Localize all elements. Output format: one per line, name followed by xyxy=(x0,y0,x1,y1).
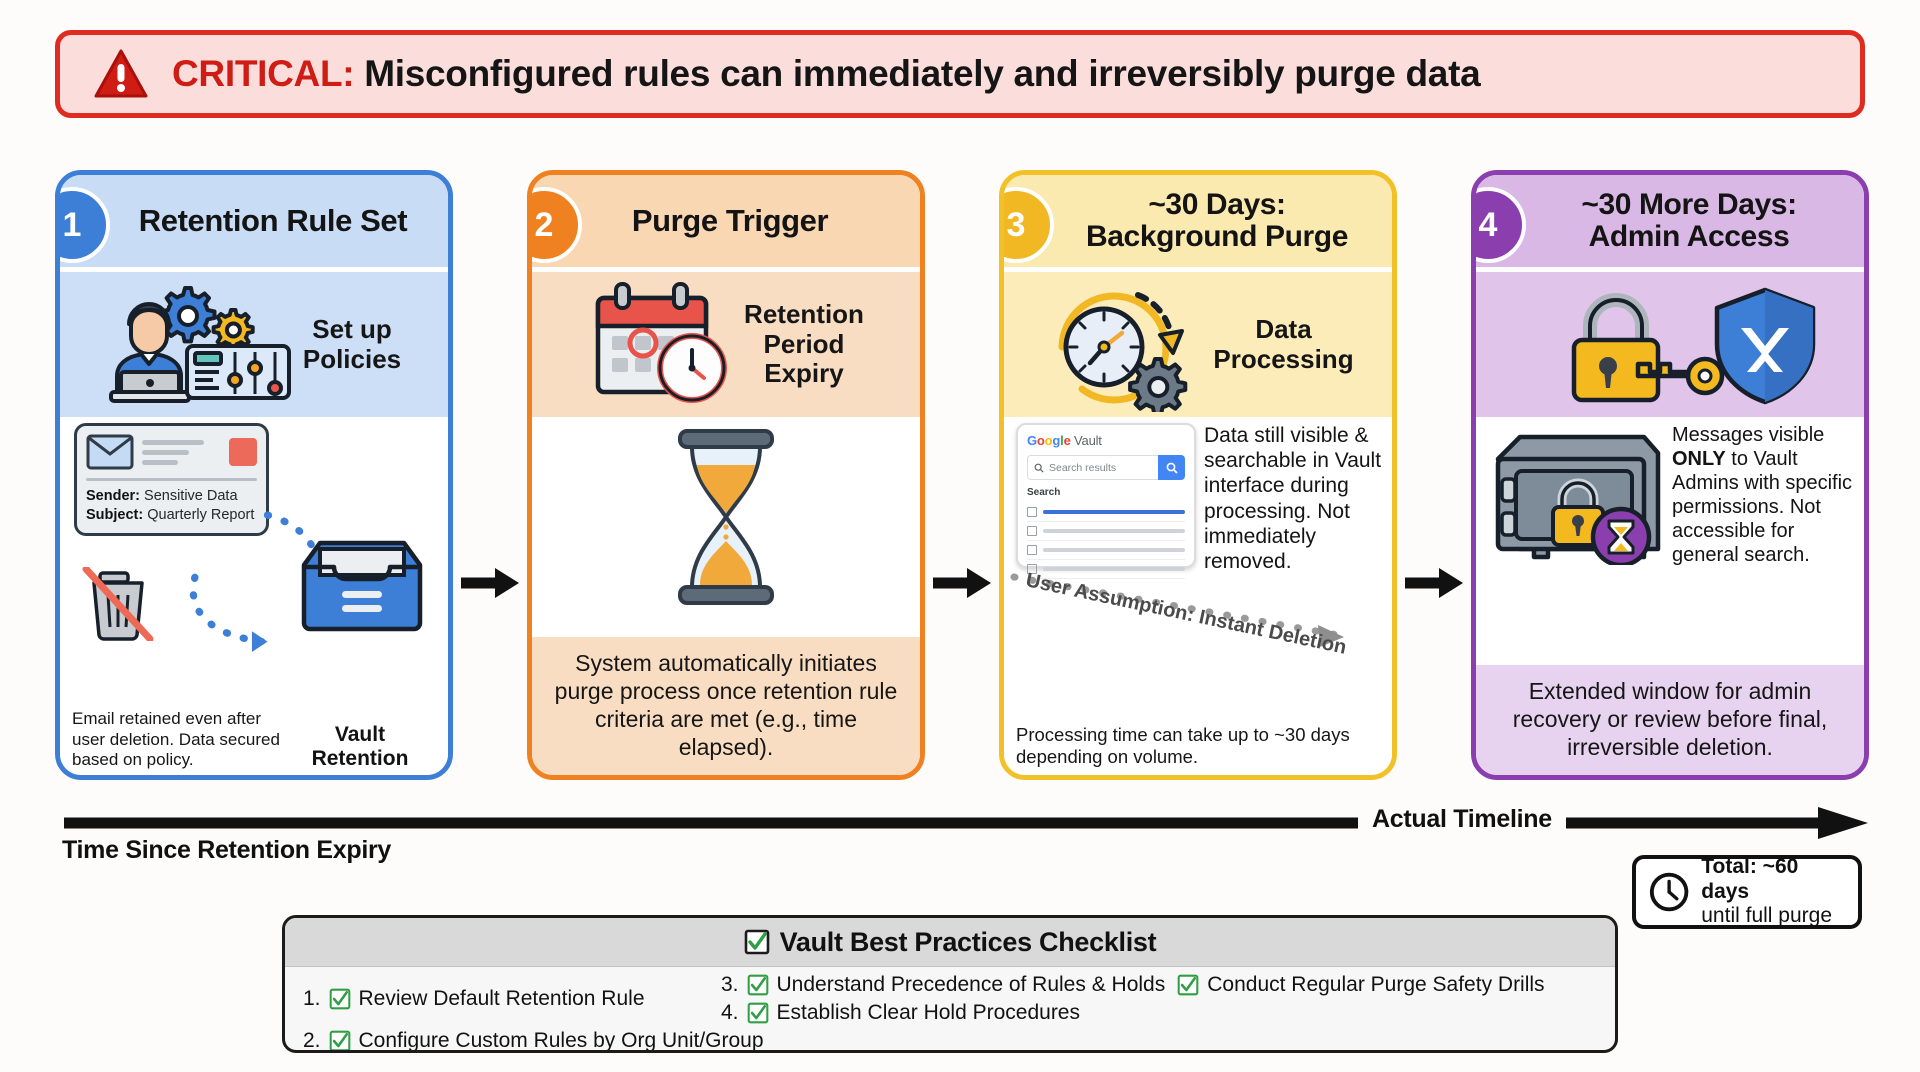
vault-results-section-label: Search xyxy=(1027,487,1185,498)
checklist-item-2-label: Configure Custom Rules by Org Unit/Group xyxy=(359,1029,764,1053)
total-line-2: until full purge xyxy=(1701,904,1832,927)
stage-card-1[interactable]: 1 Retention Rule Set xyxy=(55,170,453,780)
vault-search-placeholder: Search results xyxy=(1049,462,1116,474)
checklist-item-1-number: 1. xyxy=(303,987,321,1011)
clock-icon xyxy=(1648,870,1690,914)
stage-card-1-body: Sender: Sensitive Data Subject: Quarterl… xyxy=(60,417,448,775)
vault-retention-label: VaultRetention xyxy=(290,723,430,771)
padlock-key-shield-icon xyxy=(1520,280,1820,410)
vault-search-button[interactable] xyxy=(1158,455,1185,480)
stage-card-2-body xyxy=(532,417,920,637)
vault-search-input[interactable]: Search results xyxy=(1027,455,1158,480)
calendar-clock-icon xyxy=(588,280,738,410)
banner-critical-label: CRITICAL: xyxy=(172,53,354,94)
stage-card-1-title: Retention Rule Set xyxy=(139,204,407,237)
google-vault-mock[interactable]: Google Vault Search results xyxy=(1016,423,1196,568)
checklist-header: Vault Best Practices Checklist xyxy=(285,918,1615,967)
banner-message: Misconfigured rules can immediately and … xyxy=(364,53,1480,94)
warning-triangle-icon xyxy=(94,49,148,99)
checklist-grid: 1. Review Default Retention Rule 3. xyxy=(303,973,1597,1053)
stage-card-4-note: Messages visible ONLY to Vault Admins wi… xyxy=(1672,423,1854,567)
stage-card-4-title: ~30 More Days:Admin Access xyxy=(1581,189,1796,254)
stage-card-2-footer: System automatically initiates purge pro… xyxy=(532,637,920,775)
stage-card-3-header: ~30 Days:Background Purge xyxy=(1004,175,1392,267)
stage-card-3-title: ~30 Days:Background Purge xyxy=(1086,189,1348,254)
checkbox-checked-icon[interactable] xyxy=(747,974,769,996)
checklist-item-4-label: Establish Clear Hold Procedures xyxy=(777,1001,1080,1025)
hourglass-icon xyxy=(666,427,786,607)
checklist-right-row-1: 3. Understand Precedence of Rules & Hold… xyxy=(721,973,1597,997)
stage-card-2-hero: RetentionPeriodExpiry xyxy=(532,267,920,417)
result-checkbox[interactable] xyxy=(1027,507,1037,517)
checklist-item-1[interactable]: 1. Review Default Retention Rule xyxy=(303,973,703,1025)
checklist-item-3-number: 3. xyxy=(721,973,739,997)
stage-card-3-footer-note: Processing time can take up to ~30 days … xyxy=(1016,724,1356,769)
checklist-right-row-2: 4. Establish Clear Hold Procedures xyxy=(721,1001,1597,1025)
stage-card-4-footer: Extended window for admin recovery or re… xyxy=(1476,665,1864,775)
stage-card-2-title: Purge Trigger xyxy=(632,204,858,237)
checkbox-checked-icon[interactable] xyxy=(329,988,351,1010)
result-bar xyxy=(1043,510,1185,514)
vault-search-row[interactable]: Search results xyxy=(1027,455,1185,480)
magnifier-icon xyxy=(1034,463,1044,473)
checklist-title: Vault Best Practices Checklist xyxy=(780,927,1157,958)
clock-gear-processing-icon xyxy=(1042,277,1207,412)
result-checkbox[interactable] xyxy=(1027,545,1037,555)
checklist-item-3[interactable]: 3. Understand Precedence of Rules & Hold… xyxy=(721,973,1165,997)
stage-card-1-hero-label: Set upPolicies xyxy=(303,315,401,375)
stage-card-1-header: Retention Rule Set xyxy=(60,175,448,267)
checklist-item-4-number: 4. xyxy=(721,1001,739,1025)
checklist-item-4[interactable]: 4. Establish Clear Hold Procedures xyxy=(721,1001,1080,1025)
vault-result-row[interactable] xyxy=(1027,522,1185,541)
timeline-right-label: Actual Timeline xyxy=(1358,805,1566,834)
stage-card-1-hero: Set upPolicies xyxy=(60,267,448,417)
flow-arrow-3-to-4 xyxy=(1403,566,1465,600)
stage-card-3-note: Data still visible & searchable in Vault… xyxy=(1204,423,1382,574)
vault-tray-icon xyxy=(298,537,426,635)
vault-wordmark: Vault xyxy=(1074,433,1102,448)
stage-card-3-body: Google Vault Search results xyxy=(1004,417,1392,775)
stage-card-2-header: Purge Trigger xyxy=(532,175,920,267)
result-bar xyxy=(1043,529,1185,533)
result-checkbox[interactable] xyxy=(1027,526,1037,536)
checklist-body: 1. Review Default Retention Rule 3. xyxy=(285,967,1615,1048)
total-duration-badge: Total: ~60 days until full purge xyxy=(1632,855,1862,929)
vault-result-row[interactable] xyxy=(1027,503,1185,522)
flow-arrow-1-to-2 xyxy=(459,566,521,600)
checklist-item-5-label: Conduct Regular Purge Safety Drills xyxy=(1207,973,1544,997)
google-vault-logo: Google Vault xyxy=(1027,433,1185,448)
checkbox-checked-icon[interactable] xyxy=(1177,974,1199,996)
safe-hourglass-icon xyxy=(1490,425,1670,565)
checkbox-checked-icon xyxy=(744,929,770,955)
stage-card-1-note: Email retained even after user deletion.… xyxy=(72,709,282,771)
checklist-item-2-number: 2. xyxy=(303,1029,321,1053)
timeline-left-label: Time Since Retention Expiry xyxy=(62,836,391,865)
admin-gears-icon xyxy=(107,280,297,410)
search-icon xyxy=(1166,462,1178,474)
checklist-right-column: 3. Understand Precedence of Rules & Hold… xyxy=(721,973,1597,1025)
stage-card-3-hero: DataProcessing xyxy=(1004,267,1392,417)
checklist-item-2[interactable]: 2. Configure Custom Rules by Org Unit/Gr… xyxy=(303,1029,703,1053)
checklist-item-5[interactable]: Conduct Regular Purge Safety Drills xyxy=(1177,973,1544,997)
checklist-item-3-label: Understand Precedence of Rules & Holds xyxy=(777,973,1166,997)
trash-disabled-icon xyxy=(82,567,154,641)
stage-card-2-hero-label: RetentionPeriodExpiry xyxy=(744,300,864,390)
infographic-root: CRITICAL: Misconfigured rules can immedi… xyxy=(0,0,1920,1072)
total-line-1: Total: ~60 days xyxy=(1701,855,1798,902)
stage-cards: 1 Retention Rule Set xyxy=(55,170,1870,790)
checkbox-checked-icon[interactable] xyxy=(329,1030,351,1052)
card4-note-bold: ONLY xyxy=(1672,448,1726,470)
stage-card-4-hero xyxy=(1476,267,1864,417)
stage-card-4-body: Messages visible ONLY to Vault Admins wi… xyxy=(1476,417,1864,665)
total-duration-text: Total: ~60 days until full purge xyxy=(1701,855,1846,928)
best-practices-checklist: Vault Best Practices Checklist 1. Review… xyxy=(282,915,1618,1053)
stage-card-3[interactable]: 3 ~30 Days:Background Purge xyxy=(999,170,1397,780)
banner-text: CRITICAL: Misconfigured rules can immedi… xyxy=(172,53,1480,95)
stage-card-3-hero-label: DataProcessing xyxy=(1213,315,1353,375)
flow-arrow-2-to-3 xyxy=(931,566,993,600)
checkbox-checked-icon[interactable] xyxy=(747,1002,769,1024)
result-bar xyxy=(1043,548,1185,552)
stage-card-2[interactable]: 2 Purge Trigger xyxy=(527,170,925,780)
critical-banner: CRITICAL: Misconfigured rules can immedi… xyxy=(55,30,1865,118)
stage-card-4-header: ~30 More Days:Admin Access xyxy=(1476,175,1864,267)
card4-note-pre: Messages visible xyxy=(1672,424,1824,446)
checklist-item-1-label: Review Default Retention Rule xyxy=(359,987,645,1011)
vault-result-row[interactable] xyxy=(1027,541,1185,560)
stage-card-4[interactable]: 4 ~30 More Days:Admin Access xyxy=(1471,170,1869,780)
